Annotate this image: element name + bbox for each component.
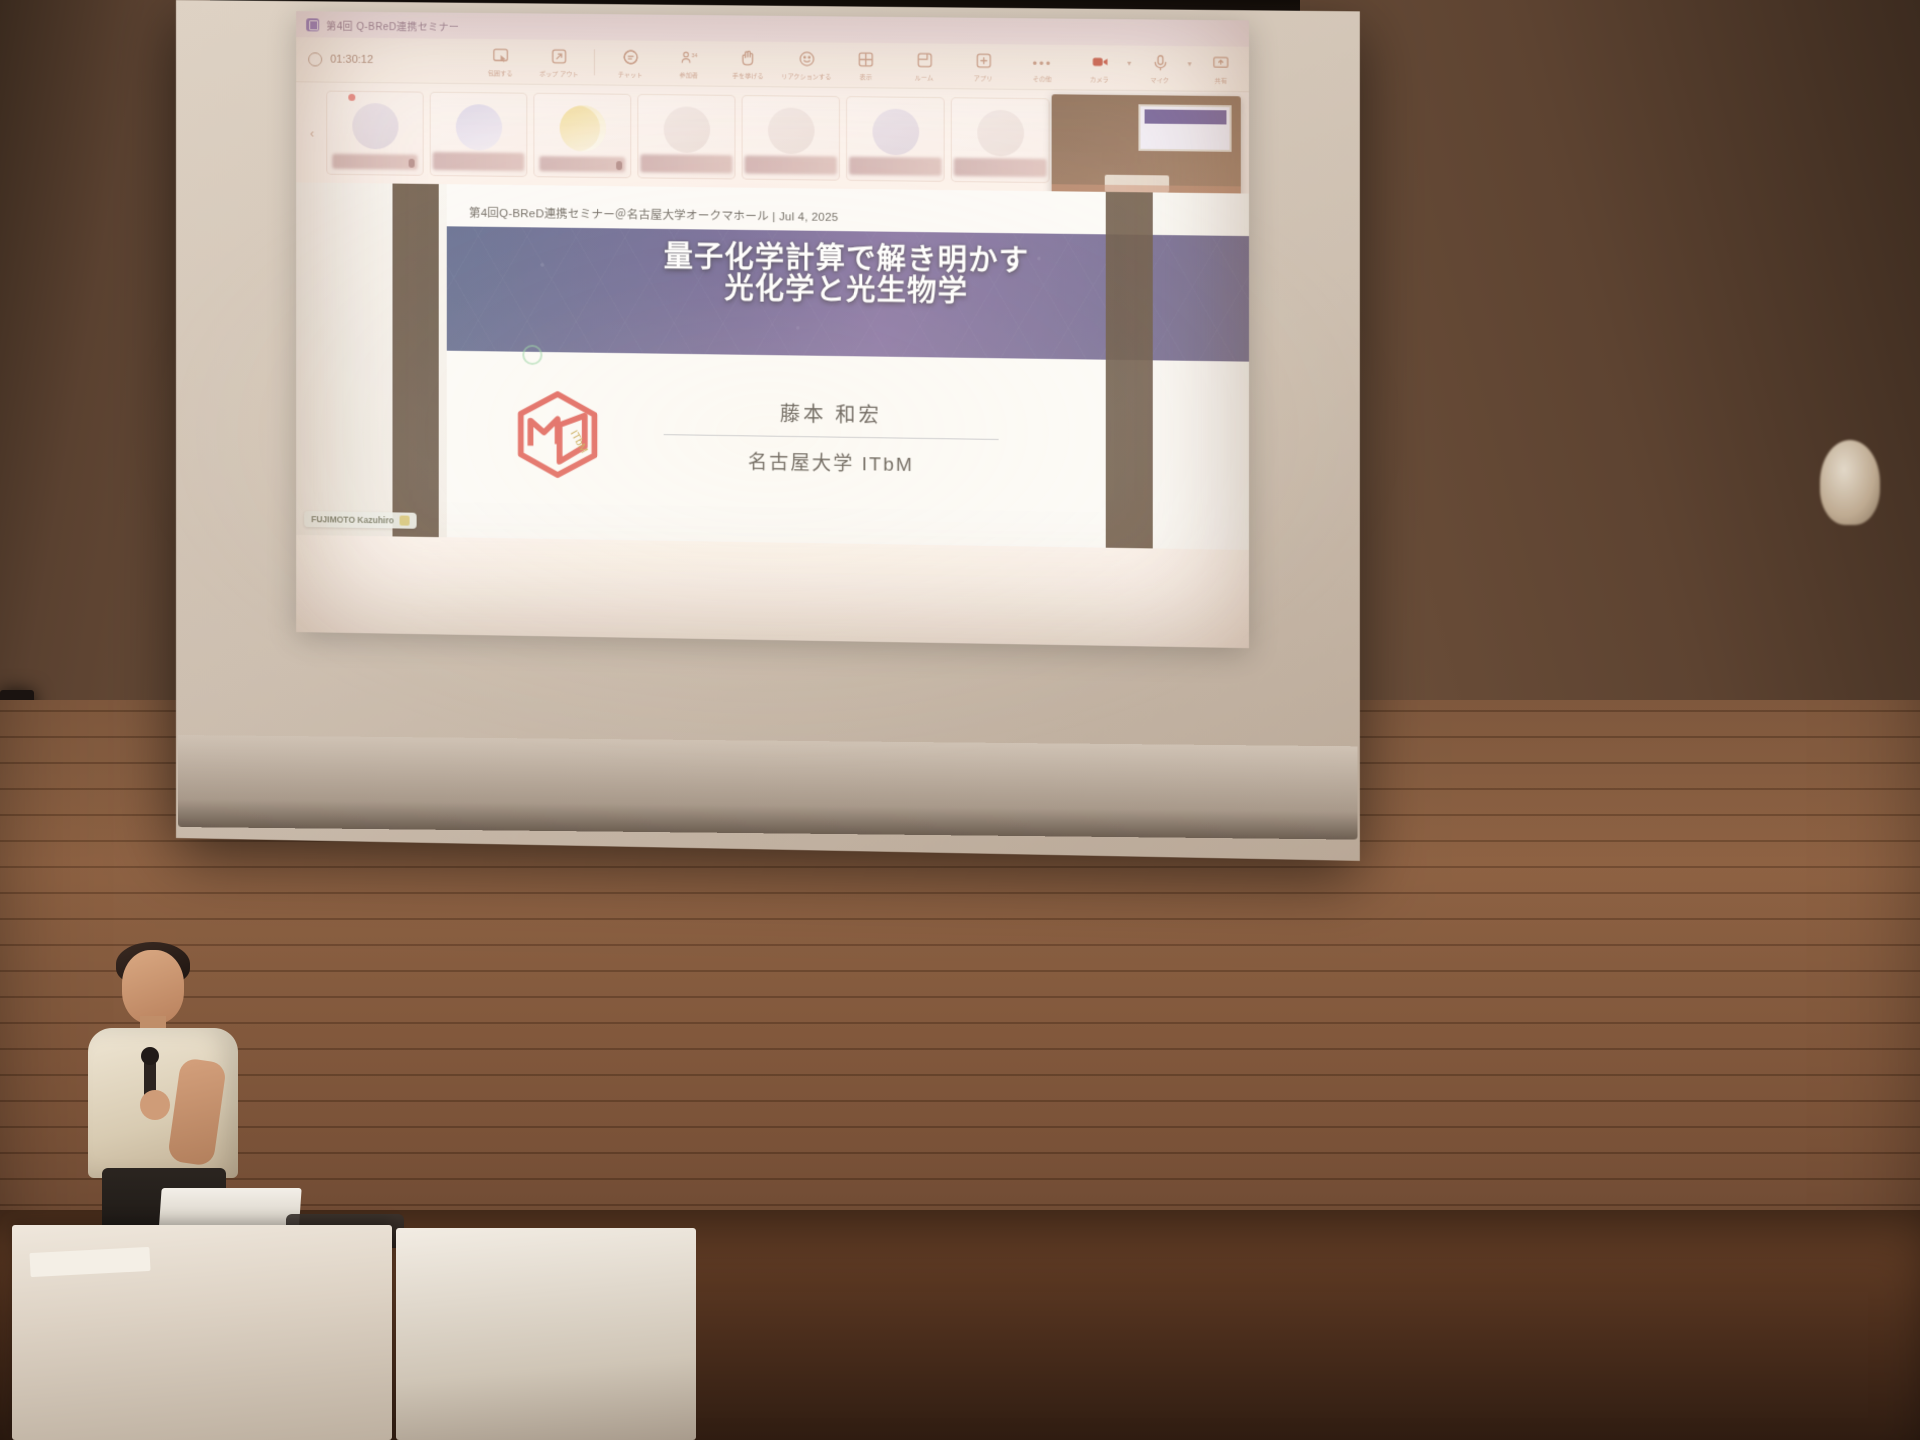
toolbar-button-view[interactable]: 表示 (836, 49, 895, 81)
participant-name (745, 155, 837, 174)
participant-name (332, 154, 417, 170)
toolbar-label: アプリ (974, 72, 993, 82)
meeting-timer: 01:30:12 (308, 52, 429, 67)
people-icon: 34 (679, 48, 698, 67)
camera-button[interactable]: カメラ (1072, 52, 1127, 84)
avatar (559, 105, 605, 152)
chevron-down-icon[interactable]: ▾ (1188, 59, 1192, 68)
toolbar-label: その他 (1033, 73, 1052, 83)
avatar (663, 106, 710, 153)
window-title: 第4回 Q-BReD連携セミナー (326, 17, 459, 33)
device-label: 共有 (1214, 74, 1227, 84)
wall-lamp (1820, 440, 1880, 525)
participant-tile[interactable] (951, 97, 1050, 183)
presenter-affiliation: 名古屋大学 ITbM (664, 435, 999, 478)
participant-name (433, 152, 525, 171)
chevron-left-icon[interactable]: ‹ (304, 125, 320, 140)
participant-name (849, 157, 942, 176)
slide-header-text: 第4回Q-BReD連携セミナー＠名古屋大学オークマホール | Jul 4, 20… (469, 204, 838, 225)
toolbar-label: チャット (618, 68, 643, 78)
laser-pointer-dot (522, 345, 542, 365)
participant-tile[interactable] (846, 96, 945, 182)
teams-meeting-window: 第4回 Q-BReD連携セミナー 01:30:12 (296, 11, 1249, 648)
presenter-name-badge: FUJIMOTO Kazuhiro (304, 511, 416, 529)
projection-screen: 第4回 Q-BReD連携セミナー 01:30:12 (176, 0, 1360, 861)
layout-grid-icon (856, 49, 875, 68)
room-camera-pip[interactable] (1052, 94, 1241, 201)
shared-content-slide: 第4回Q-BReD連携セミナー＠名古屋大学オークマホール | Jul 4, 20… (296, 182, 1249, 550)
toolbar-label: ルーム (915, 71, 934, 81)
avatar (352, 103, 398, 150)
head (122, 950, 184, 1024)
emoji-smiley-icon (797, 49, 816, 68)
participant-tile[interactable] (637, 94, 735, 180)
toolbar-button-apps[interactable]: アプリ (954, 50, 1013, 82)
participant-tile[interactable] (533, 93, 631, 178)
share-screen-icon (1211, 53, 1230, 72)
toolbar-button-raise-hand[interactable]: 手を挙げる (718, 48, 777, 80)
microphone-muted-icon (616, 161, 622, 170)
participant-tile[interactable] (326, 91, 423, 176)
avatar (977, 110, 1024, 157)
raise-hand-icon (738, 48, 757, 67)
toolbar-button-participants[interactable]: 34 参加者 (660, 47, 719, 79)
pip-projection-screen (1139, 105, 1232, 152)
toolbar-label: ポップ アウト (539, 68, 578, 78)
lecture-hall-scene: 第4回 Q-BReD連携セミナー 01:30:12 (0, 0, 1920, 1440)
participant-tile[interactable] (742, 95, 840, 181)
presenter-name: 藤本 和宏 (664, 396, 999, 439)
presenter-badge-name: FUJIMOTO Kazuhiro (311, 514, 394, 525)
secondary-lectern (396, 1228, 696, 1440)
projector-hotspot (348, 94, 355, 101)
participant-roster: ‹ (296, 82, 1249, 193)
avatar (455, 104, 501, 151)
toolbar-label: 参加者 (680, 69, 699, 79)
chat-bubble-icon (621, 47, 640, 66)
hand (140, 1090, 170, 1120)
device-controls: カメラ ▾ マイク ▾ (1072, 52, 1249, 86)
toolbar-button-more[interactable]: ••• その他 (1013, 51, 1072, 83)
toolbar-button-rooms[interactable]: ルーム (895, 50, 954, 82)
toolbar-buttons: 包囲する ポップ アウト (471, 45, 1072, 82)
participant-name (640, 154, 732, 173)
room-pillar-shadow-right (1106, 192, 1153, 549)
device-label: マイク (1151, 74, 1170, 84)
share-button[interactable]: 共有 (1193, 53, 1248, 85)
svg-text:34: 34 (691, 53, 697, 59)
screen-bottom-rail (178, 735, 1358, 840)
presenter-block: 藤本 和宏 名古屋大学 ITbM (664, 396, 999, 478)
toolbar-divider (594, 49, 595, 75)
teams-logo-icon (306, 18, 319, 31)
avatar (872, 109, 919, 156)
breakout-rooms-icon (915, 50, 934, 69)
toolbar-button-rename[interactable]: 包囲する (471, 45, 529, 77)
rename-cursor-icon (491, 46, 510, 65)
pin-icon[interactable] (399, 515, 409, 525)
toolbar-button-reactions[interactable]: リアクションする (777, 49, 836, 81)
toolbar-button-chat[interactable]: チャット (601, 47, 660, 79)
timer-value: 01:30:12 (330, 54, 373, 66)
toolbar-label: 包囲する (488, 67, 513, 77)
toolbar-label: リアクションする (782, 70, 832, 80)
camera-icon (1090, 52, 1109, 71)
participant-name (539, 156, 625, 172)
participant-name (954, 158, 1047, 177)
stopwatch-icon (308, 52, 322, 66)
itbm-cube-logo: ITbM (509, 386, 606, 484)
apps-plus-icon (974, 51, 993, 70)
chevron-down-icon[interactable]: ▾ (1127, 58, 1131, 67)
microphone-muted-icon (409, 159, 415, 168)
toolbar-label: 手を挙げる (732, 70, 763, 80)
pop-out-icon (549, 46, 568, 65)
microphone-button[interactable]: マイク (1132, 52, 1187, 84)
microphone-icon (1150, 52, 1169, 71)
avatar (767, 107, 814, 154)
toolbar-button-popout[interactable]: ポップ アウト (529, 46, 588, 78)
toolbar-label: 表示 (859, 71, 872, 81)
more-ellipsis-icon: ••• (1019, 51, 1066, 71)
participant-tile[interactable] (430, 92, 528, 177)
device-label: カメラ (1090, 73, 1109, 83)
room-pillar-shadow-left (392, 184, 438, 538)
